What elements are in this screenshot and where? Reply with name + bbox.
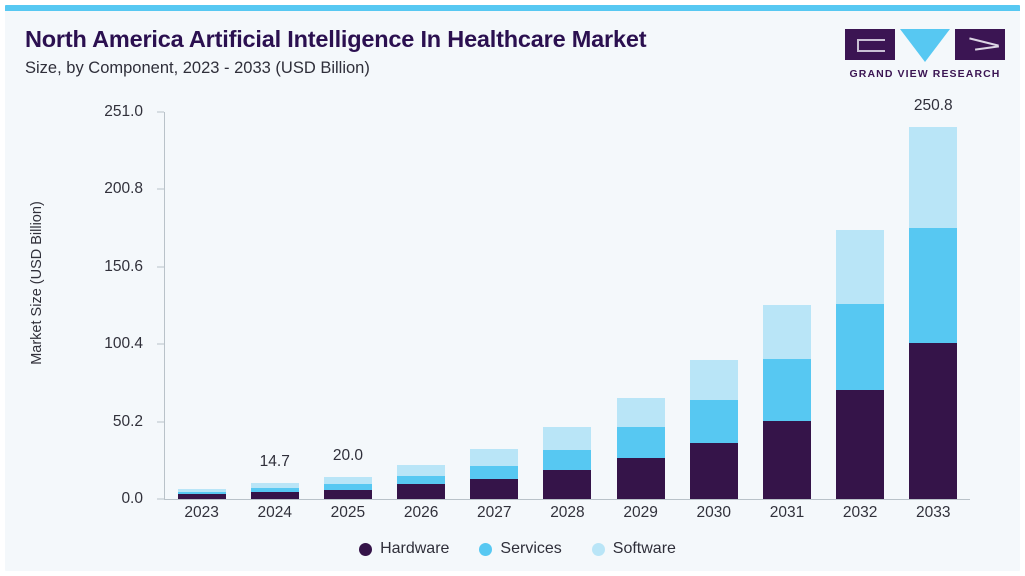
bar-stack[interactable] xyxy=(178,489,226,499)
bar-segment-software[interactable] xyxy=(324,477,372,484)
x-axis-tick-label: 2027 xyxy=(458,504,531,522)
y-axis-tick-label: 200.8 xyxy=(104,180,143,198)
bar-segment-software[interactable] xyxy=(836,230,884,304)
bar-segment-software[interactable] xyxy=(617,398,665,427)
logo-wordmark: GRAND VIEW RESEARCH xyxy=(850,68,1001,80)
bar-column[interactable] xyxy=(604,100,677,499)
x-axis-tick-label: 2029 xyxy=(604,504,677,522)
bar-segment-hardware[interactable] xyxy=(470,479,518,499)
bar-column[interactable] xyxy=(531,100,604,499)
bar-column[interactable]: 14.7 xyxy=(238,100,311,499)
bar-segment-services[interactable] xyxy=(617,427,665,458)
bar-segment-hardware[interactable] xyxy=(251,492,299,499)
y-axis-tick-label: 100.4 xyxy=(104,335,143,353)
bar-column[interactable]: 20.0 xyxy=(311,100,384,499)
logo-left-block-icon xyxy=(845,29,895,60)
bar-series-container: 14.720.0250.8 xyxy=(165,100,970,499)
bar-stack[interactable] xyxy=(251,483,299,499)
bar-stack[interactable] xyxy=(470,449,518,499)
y-axis-tick-label: 150.6 xyxy=(104,258,143,276)
bar-segment-hardware[interactable] xyxy=(909,343,957,499)
bar-stack[interactable] xyxy=(543,427,591,499)
bar-column[interactable] xyxy=(385,100,458,499)
bar-segment-services[interactable] xyxy=(909,228,957,343)
bar-segment-hardware[interactable] xyxy=(617,458,665,499)
x-axis-tick-label: 2030 xyxy=(677,504,750,522)
bar-segment-software[interactable] xyxy=(397,465,445,476)
bar-segment-software[interactable] xyxy=(543,427,591,451)
bar-stack[interactable] xyxy=(836,230,884,499)
bar-segment-services[interactable] xyxy=(470,466,518,479)
bar-segment-hardware[interactable] xyxy=(763,421,811,499)
bar-segment-software[interactable] xyxy=(763,305,811,359)
bar-segment-hardware[interactable] xyxy=(397,484,445,499)
bar-segment-services[interactable] xyxy=(836,304,884,390)
y-axis-tick-mark xyxy=(157,344,164,345)
chart-legend: HardwareServicesSoftware xyxy=(5,540,1025,558)
bar-column[interactable] xyxy=(677,100,750,499)
x-axis-tick-label: 2028 xyxy=(531,504,604,522)
x-axis-tick-label: 2032 xyxy=(824,504,897,522)
bar-stack[interactable] xyxy=(909,127,957,499)
y-axis-tick-mark xyxy=(157,112,164,113)
x-axis-line xyxy=(164,499,970,500)
x-axis-ticks: 2023202420252026202720282029203020312032… xyxy=(165,504,970,522)
legend-label: Software xyxy=(613,540,676,558)
legend-swatch-icon xyxy=(359,543,372,556)
bar-segment-services[interactable] xyxy=(690,400,738,443)
legend-label: Services xyxy=(500,540,561,558)
bar-value-label: 250.8 xyxy=(897,97,970,115)
bar-column[interactable] xyxy=(458,100,531,499)
bar-stack[interactable] xyxy=(397,465,445,499)
y-axis-ticks: 0.050.2100.4150.6200.8251.0 xyxy=(5,100,165,500)
legend-label: Hardware xyxy=(380,540,449,558)
logo-marks xyxy=(845,29,1005,62)
brand-logo: GRAND VIEW RESEARCH xyxy=(846,29,1004,80)
x-axis-tick-label: 2025 xyxy=(311,504,384,522)
bar-segment-hardware[interactable] xyxy=(690,443,738,499)
bar-segment-hardware[interactable] xyxy=(836,390,884,499)
chart-card: North America Artificial Intelligence In… xyxy=(0,0,1025,576)
bar-stack[interactable] xyxy=(763,305,811,499)
y-axis-tick-mark xyxy=(157,499,164,500)
bar-stack[interactable] xyxy=(690,360,738,499)
bar-segment-software[interactable] xyxy=(690,360,738,400)
x-axis-tick-label: 2023 xyxy=(165,504,238,522)
bar-column[interactable] xyxy=(750,100,823,499)
bar-segment-services[interactable] xyxy=(763,359,811,421)
bar-stack[interactable] xyxy=(617,398,665,499)
bar-column[interactable] xyxy=(824,100,897,499)
bar-segment-hardware[interactable] xyxy=(324,490,372,499)
x-axis-tick-label: 2031 xyxy=(750,504,823,522)
x-axis-tick-label: 2026 xyxy=(385,504,458,522)
logo-triangle-icon xyxy=(900,29,950,62)
bar-segment-services[interactable] xyxy=(397,476,445,484)
bar-segment-software[interactable] xyxy=(909,127,957,228)
accent-top-bar xyxy=(5,5,1020,11)
bar-segment-software[interactable] xyxy=(470,449,518,466)
bar-value-label: 20.0 xyxy=(311,447,384,465)
bar-stack[interactable] xyxy=(324,477,372,499)
bar-segment-services[interactable] xyxy=(543,450,591,469)
logo-right-block-icon xyxy=(955,29,1005,60)
bar-column[interactable] xyxy=(165,100,238,499)
legend-swatch-icon xyxy=(592,543,605,556)
legend-item[interactable]: Services xyxy=(479,540,561,558)
x-axis-tick-label: 2033 xyxy=(897,504,970,522)
y-axis-tick-label: 50.2 xyxy=(113,413,143,431)
legend-item[interactable]: Software xyxy=(592,540,676,558)
y-axis-tick-label: 251.0 xyxy=(104,103,143,121)
chart-plot-area: Market Size (USD Billion) 0.050.2100.415… xyxy=(5,100,1025,520)
legend-item[interactable]: Hardware xyxy=(359,540,449,558)
bar-segment-hardware[interactable] xyxy=(178,494,226,499)
y-axis-tick-mark xyxy=(157,189,164,190)
legend-swatch-icon xyxy=(479,543,492,556)
bar-column[interactable]: 250.8 xyxy=(897,100,970,499)
bar-value-label: 14.7 xyxy=(238,453,311,471)
y-axis-tick-mark xyxy=(157,266,164,267)
bar-segment-hardware[interactable] xyxy=(543,470,591,499)
y-axis-tick-label: 0.0 xyxy=(121,490,143,508)
y-axis-tick-mark xyxy=(157,421,164,422)
x-axis-tick-label: 2024 xyxy=(238,504,311,522)
